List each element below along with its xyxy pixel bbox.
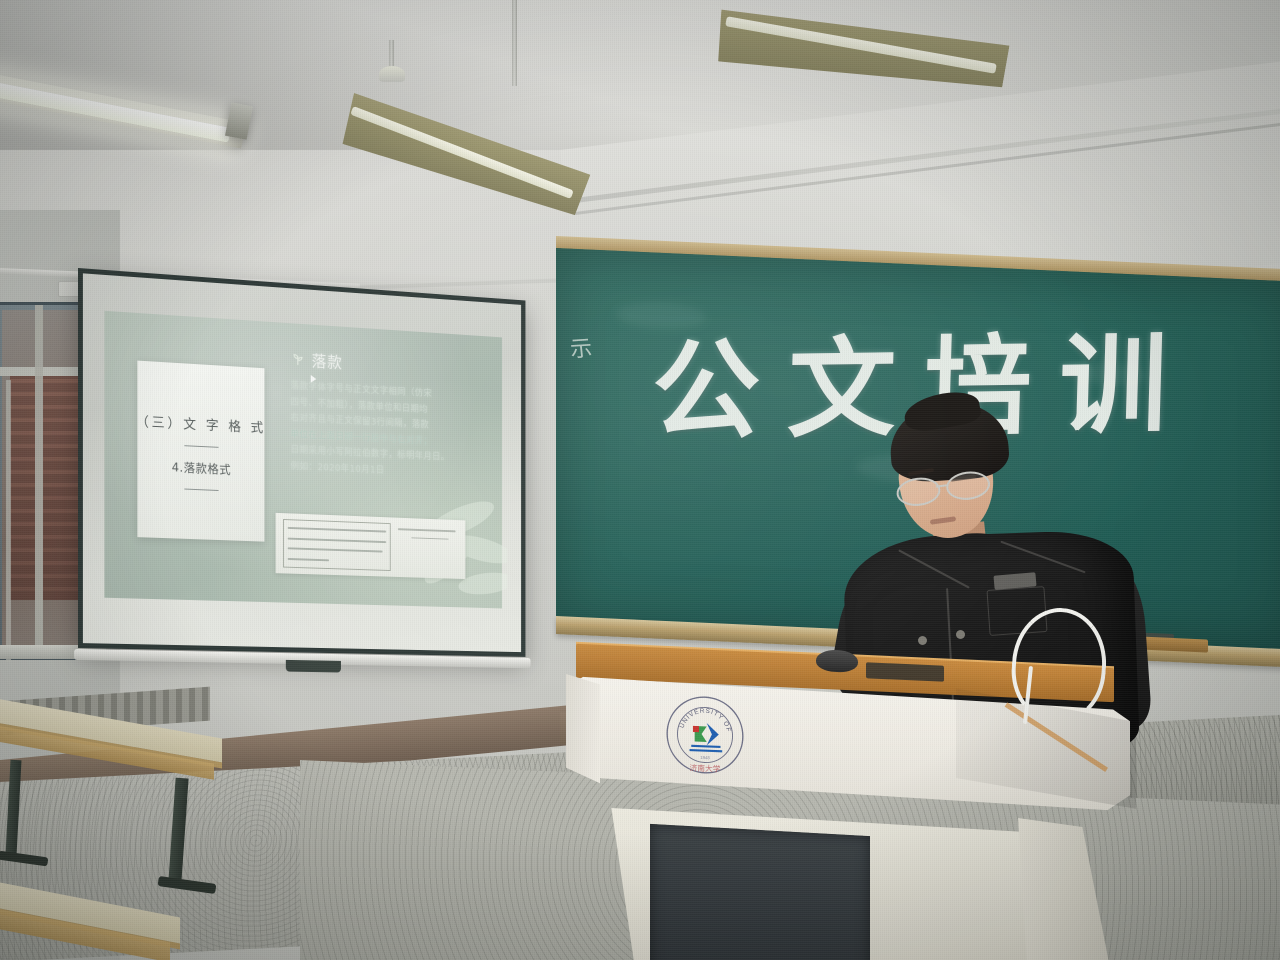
screen-surface: （三）文 字 格 式 4.落款格式 xyxy=(83,273,521,652)
projection-screen: （三）文 字 格 式 4.落款格式 xyxy=(78,268,525,657)
slide-section-card: （三）文 字 格 式 4.落款格式 xyxy=(137,361,264,542)
screen-pull-handle[interactable] xyxy=(286,660,341,673)
svg-text:济南大学: 济南大学 xyxy=(690,763,721,774)
slide-card-subheading: 4.落款格式 xyxy=(172,458,231,477)
mouse-cursor-icon xyxy=(311,375,317,383)
computer-mouse[interactable] xyxy=(816,649,858,672)
window-mullion-vertical xyxy=(35,305,43,657)
screen-frame: （三）文 字 格 式 4.落款格式 xyxy=(78,268,525,657)
lectern-side-panel xyxy=(566,674,600,804)
university-of-jinan-emblem-icon: UNIVERSITY OF JINAN 1948 济南大学 xyxy=(662,690,748,779)
slide-body-text: 落款字体字号与正文文字相同（仿宋 四号、不加粗），落款单位和日期均 右对齐且与正… xyxy=(290,379,486,484)
example-doc-body xyxy=(283,519,391,571)
svg-text:1948: 1948 xyxy=(700,755,710,760)
lamp-suspension-rod xyxy=(512,0,517,86)
slide-example-document xyxy=(276,513,466,579)
divider xyxy=(184,489,218,492)
jacket-button xyxy=(956,630,965,639)
slide-title-row: 落款 xyxy=(290,347,486,382)
lectern-display-panel[interactable] xyxy=(650,824,870,960)
classroom-photo: （三）文 字 格 式 4.落款格式 xyxy=(0,0,1280,960)
lectern-right-leg xyxy=(1018,818,1110,960)
chalk-mark: 示 xyxy=(568,330,593,363)
example-doc-signature xyxy=(398,523,458,573)
mouse-pad xyxy=(866,662,944,681)
sprout-icon xyxy=(290,350,305,366)
slide-title: 落款 xyxy=(312,348,343,373)
lamp-ceiling-mount xyxy=(379,66,405,82)
presentation-slide: （三）文 字 格 式 4.落款格式 xyxy=(104,311,502,609)
slide-content: 落款 落款字体字号与正文文字相同（仿宋 四号、不加粗），落款单位和日期均 右对齐… xyxy=(290,347,486,484)
slide-card-heading: （三）文 字 格 式 xyxy=(136,410,266,436)
window-mullion xyxy=(6,380,11,662)
divider xyxy=(184,445,218,448)
